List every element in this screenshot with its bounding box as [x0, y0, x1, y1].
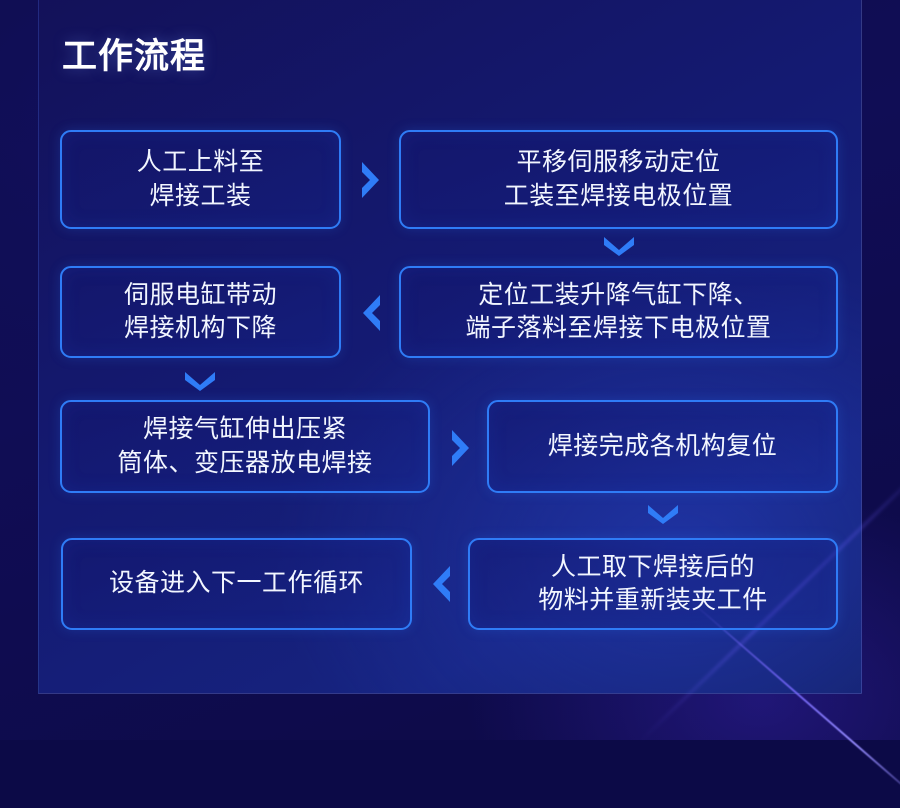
flow-step-5-line1: 焊接气缸伸出压紧 — [111, 413, 378, 447]
flow-step-6[interactable]: 焊接完成各机构复位 — [487, 400, 838, 493]
flow-step-2-text: 平移伺服移动定位 工装至焊接电极位置 — [498, 146, 740, 213]
flow-step-7[interactable]: 人工取下焊接后的 物料并重新装夹工件 — [468, 538, 838, 630]
flow-step-7-text: 人工取下焊接后的 物料并重新装夹工件 — [532, 551, 774, 618]
flow-step-4[interactable]: 伺服电缸带动 焊接机构下降 — [60, 266, 341, 358]
flow-step-4-line1: 伺服电缸带动 — [118, 279, 283, 313]
flow-step-5[interactable]: 焊接气缸伸出压紧 筒体、变压器放电焊接 — [60, 400, 430, 493]
flow-step-7-line2: 物料并重新装夹工件 — [532, 584, 774, 618]
flow-step-1-line2: 焊接工装 — [131, 180, 271, 214]
chevron-right-icon — [358, 158, 384, 202]
flow-step-1[interactable]: 人工上料至 焊接工装 — [60, 130, 341, 229]
flow-step-3-text: 定位工装升降气缸下降、 端子落料至焊接下电极位置 — [459, 279, 777, 346]
flow-step-1-line1: 人工上料至 — [131, 146, 271, 180]
flow-step-3-line2: 端子落料至焊接下电极位置 — [459, 312, 777, 346]
flow-step-5-text: 焊接气缸伸出压紧 筒体、变压器放电焊接 — [111, 413, 378, 480]
flow-step-4-text: 伺服电缸带动 焊接机构下降 — [118, 279, 283, 346]
flow-step-2-line2: 工装至焊接电极位置 — [498, 180, 740, 214]
chevron-down-icon-2 — [183, 369, 217, 393]
chevron-down-icon-3 — [646, 502, 680, 526]
flow-step-6-line1: 焊接完成各机构复位 — [542, 430, 784, 464]
flow-step-5-line2: 筒体、变压器放电焊接 — [111, 447, 378, 481]
workflow-infographic: 工作流程 人工上料至 焊接工装 平移伺服移动定位 工装至焊接电极位置 伺服电缸带… — [0, 0, 900, 740]
flow-step-2-line1: 平移伺服移动定位 — [498, 146, 740, 180]
flow-step-4-line2: 焊接机构下降 — [118, 312, 283, 346]
flow-step-8[interactable]: 设备进入下一工作循环 — [61, 538, 412, 630]
flow-step-8-line1: 设备进入下一工作循环 — [103, 567, 370, 601]
flow-step-6-text: 焊接完成各机构复位 — [542, 430, 784, 464]
flow-step-7-line1: 人工取下焊接后的 — [532, 551, 774, 585]
chevron-left-icon-1 — [358, 291, 384, 335]
flow-step-2[interactable]: 平移伺服移动定位 工装至焊接电极位置 — [399, 130, 838, 229]
page-title: 工作流程 — [62, 36, 206, 78]
chevron-left-icon-2 — [428, 562, 454, 606]
flow-step-3-line1: 定位工装升降气缸下降、 — [459, 279, 777, 313]
chevron-down-icon-1 — [602, 234, 636, 258]
flow-step-1-text: 人工上料至 焊接工装 — [131, 146, 271, 213]
chevron-right-icon-2 — [448, 426, 474, 470]
flow-step-8-text: 设备进入下一工作循环 — [103, 567, 370, 601]
flow-step-3[interactable]: 定位工装升降气缸下降、 端子落料至焊接下电极位置 — [399, 266, 838, 358]
